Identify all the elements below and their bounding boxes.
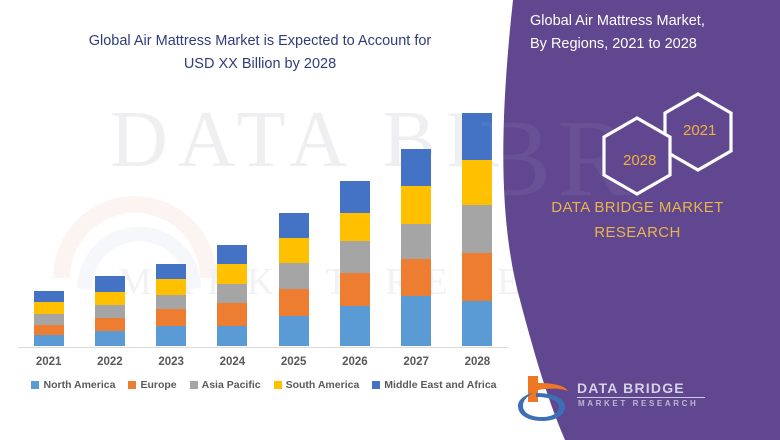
bar-segment[interactable] xyxy=(217,284,247,303)
bar-column xyxy=(145,90,197,346)
bar-segment[interactable] xyxy=(401,296,431,346)
dbmr-logo-mark-icon xyxy=(515,372,571,424)
bar-segment[interactable] xyxy=(401,259,431,296)
chart-title: Global Air Mattress Market is Expected t… xyxy=(40,30,480,76)
bar-segment[interactable] xyxy=(34,291,64,302)
hexagon-2028-label: 2028 xyxy=(623,152,656,169)
hexagon-outlines-icon xyxy=(565,88,755,198)
x-axis-line xyxy=(18,347,508,348)
x-axis-tick: 2022 xyxy=(84,356,136,368)
brand-title-line1: Global Air Mattress Market, xyxy=(530,10,770,33)
bar-segment[interactable] xyxy=(217,264,247,284)
bar-segment[interactable] xyxy=(279,238,309,263)
bar-segment[interactable] xyxy=(156,326,186,346)
legend-label: Europe xyxy=(140,379,176,391)
brand-panel-title: Global Air Mattress Market, By Regions, … xyxy=(530,10,770,56)
bar-column xyxy=(390,90,442,346)
legend-label: Asia Pacific xyxy=(202,379,261,391)
legend-swatch-icon xyxy=(372,381,380,389)
legend-item[interactable]: South America xyxy=(274,379,360,391)
hexagon-2021-label: 2021 xyxy=(683,122,716,139)
legend-swatch-icon xyxy=(31,381,39,389)
bar-segment[interactable] xyxy=(34,325,64,335)
dbmr-logo-rule xyxy=(577,397,705,398)
chart-title-line1: Global Air Mattress Market is Expected t… xyxy=(40,30,480,53)
legend-item[interactable]: Asia Pacific xyxy=(190,379,261,391)
stacked-bar[interactable] xyxy=(340,181,370,346)
bar-segment[interactable] xyxy=(401,149,431,186)
bar-segment[interactable] xyxy=(462,301,492,346)
bar-segment[interactable] xyxy=(156,279,186,295)
bar-column xyxy=(23,90,75,346)
hexagon-group: 2021 2028 xyxy=(565,88,755,198)
stacked-bar[interactable] xyxy=(156,264,186,346)
dbmr-logo[interactable]: DATA BRIDGE MARKET RESEARCH xyxy=(515,372,750,428)
bar-segment[interactable] xyxy=(401,224,431,259)
bar-segment[interactable] xyxy=(217,245,247,264)
legend-swatch-icon xyxy=(128,381,136,389)
brand-panel-content: BR Global Air Mattress Market, By Region… xyxy=(490,0,780,440)
bar-segment[interactable] xyxy=(217,303,247,326)
chart-title-line2: USD XX Billion by 2028 xyxy=(40,53,480,76)
stacked-bar[interactable] xyxy=(34,291,64,346)
x-axis-tick: 2021 xyxy=(23,356,75,368)
x-axis-tick: 2027 xyxy=(390,356,442,368)
bar-column xyxy=(206,90,258,346)
bar-segment[interactable] xyxy=(340,181,370,213)
bar-segment[interactable] xyxy=(34,302,64,314)
x-axis-tick: 2026 xyxy=(329,356,381,368)
legend-swatch-icon xyxy=(274,381,282,389)
bar-segment[interactable] xyxy=(95,305,125,318)
bar-segment[interactable] xyxy=(340,241,370,273)
x-axis-tick: 2024 xyxy=(206,356,258,368)
legend-label: South America xyxy=(286,379,360,391)
bar-segment[interactable] xyxy=(95,318,125,331)
bar-segment[interactable] xyxy=(156,264,186,279)
chart-panel: Global Air Mattress Market is Expected t… xyxy=(0,0,520,440)
bar-segment[interactable] xyxy=(217,326,247,346)
brand-name-line1: DATA BRIDGE MARKET xyxy=(510,195,765,220)
x-axis-tick: 2023 xyxy=(145,356,197,368)
chart-legend: North AmericaEuropeAsia PacificSouth Ame… xyxy=(18,376,510,394)
bar-segment[interactable] xyxy=(34,314,64,325)
brand-title-line2: By Regions, 2021 to 2028 xyxy=(530,33,770,56)
brand-name: DATA BRIDGE MARKET RESEARCH xyxy=(510,195,765,245)
bar-group xyxy=(18,90,508,346)
bar-segment[interactable] xyxy=(279,316,309,346)
bar-segment[interactable] xyxy=(340,273,370,306)
legend-label: North America xyxy=(43,379,115,391)
bar-segment[interactable] xyxy=(279,263,309,289)
brand-name-line2: RESEARCH xyxy=(510,220,765,245)
legend-item[interactable]: Europe xyxy=(128,379,176,391)
bar-column xyxy=(329,90,381,346)
x-axis-labels: 20212022202320242025202620272028 xyxy=(18,352,508,372)
bar-segment[interactable] xyxy=(34,335,64,346)
legend-item[interactable]: North America xyxy=(31,379,115,391)
bar-segment[interactable] xyxy=(340,213,370,241)
stacked-bar[interactable] xyxy=(279,213,309,346)
bar-segment[interactable] xyxy=(95,276,125,292)
bar-segment[interactable] xyxy=(279,289,309,316)
brand-panel: BR Global Air Mattress Market, By Region… xyxy=(490,0,780,440)
dbmr-wordmark: DATA BRIDGE xyxy=(577,380,685,396)
bar-segment[interactable] xyxy=(401,186,431,224)
legend-label: Middle East and Africa xyxy=(384,379,496,391)
infographic-root: DATA BRIDGE MARKET RESEARCH Global Air M… xyxy=(0,0,780,440)
bar-segment[interactable] xyxy=(156,309,186,326)
bar-segment[interactable] xyxy=(156,295,186,309)
stacked-bar[interactable] xyxy=(401,149,431,346)
legend-item[interactable]: Middle East and Africa xyxy=(372,379,496,391)
bar-segment[interactable] xyxy=(340,306,370,346)
stacked-bar[interactable] xyxy=(217,245,247,346)
legend-swatch-icon xyxy=(190,381,198,389)
bar-segment[interactable] xyxy=(462,253,492,301)
bar-segment[interactable] xyxy=(95,331,125,346)
dbmr-subtext: MARKET RESEARCH xyxy=(578,399,698,408)
bar-segment[interactable] xyxy=(95,292,125,305)
bar-segment[interactable] xyxy=(279,213,309,238)
bar-column xyxy=(268,90,320,346)
plot-area xyxy=(18,90,508,348)
stacked-bar[interactable] xyxy=(95,276,125,346)
bar-column xyxy=(84,90,136,346)
x-axis-tick: 2025 xyxy=(268,356,320,368)
